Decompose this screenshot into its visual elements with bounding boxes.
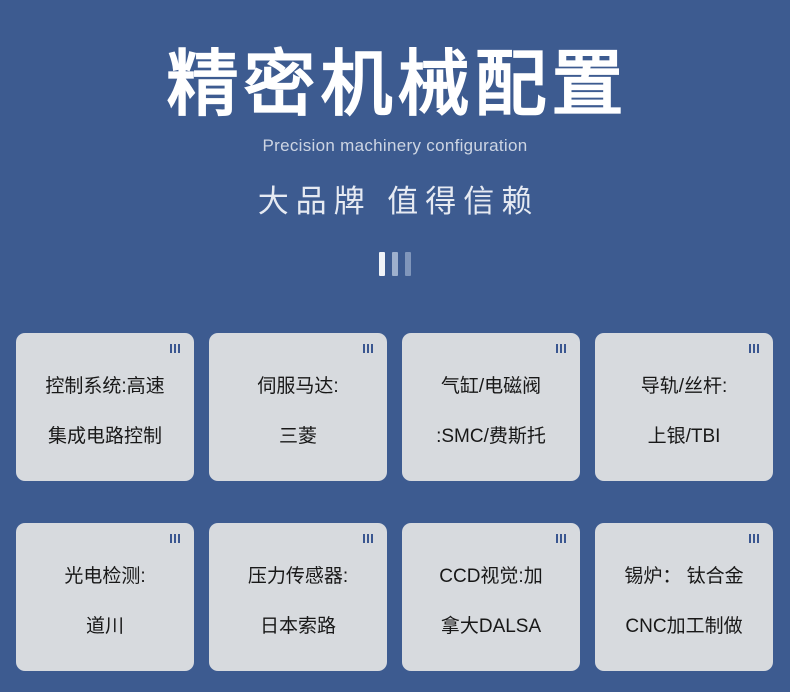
three-bars-icon <box>749 534 759 543</box>
spec-card: 导轨/丝杆: 上银/TBI <box>595 333 773 481</box>
three-bars-icon <box>170 344 180 353</box>
three-bars-icon <box>363 344 373 353</box>
spec-card-line-2: 拿大DALSA <box>410 615 572 639</box>
spec-card: 压力传感器: 日本索路 <box>209 523 387 671</box>
spec-card-line-1: 压力传感器: <box>217 565 379 589</box>
spec-card: 锡炉： 钛合金 CNC加工制做 <box>595 523 773 671</box>
spec-card-grid: 控制系统:高速 集成电路控制 伺服马达: 三菱 气缸/电磁阀 :SMC/费斯托 … <box>16 333 774 671</box>
page-title: 精密机械配置 <box>0 0 790 122</box>
three-bars-icon <box>749 344 759 353</box>
spec-card-line-2: 道川 <box>24 615 186 639</box>
three-bars-icon <box>556 534 566 543</box>
three-bars-icon <box>363 534 373 543</box>
spec-card-line-1: 导轨/丝杆: <box>603 375 765 399</box>
spec-card: 光电检测: 道川 <box>16 523 194 671</box>
spec-card: 控制系统:高速 集成电路控制 <box>16 333 194 481</box>
spec-card-line-2: 集成电路控制 <box>24 425 186 449</box>
spec-card-line-1: 锡炉： 钛合金 <box>603 565 765 589</box>
spec-card-line-1: 伺服马达: <box>217 375 379 399</box>
spec-card-line-1: CCD视觉:加 <box>410 565 572 589</box>
spec-card-line-2: 三菱 <box>217 425 379 449</box>
three-bars-icon <box>0 220 790 276</box>
tagline: 大品牌 值得信赖 <box>0 157 790 220</box>
three-bars-icon <box>556 344 566 353</box>
spec-card: CCD视觉:加 拿大DALSA <box>402 523 580 671</box>
spec-card-line-2: CNC加工制做 <box>603 615 765 639</box>
three-bars-icon <box>170 534 180 543</box>
spec-card-line-2: :SMC/费斯托 <box>410 425 572 449</box>
spec-card-line-1: 控制系统:高速 <box>24 375 186 399</box>
banner-header: 精密机械配置 Precision machinery configuration… <box>0 0 790 276</box>
subtitle-english: Precision machinery configuration <box>0 122 790 156</box>
spec-card-line-1: 光电检测: <box>24 565 186 589</box>
spec-card-line-2: 日本索路 <box>217 615 379 639</box>
spec-card: 伺服马达: 三菱 <box>209 333 387 481</box>
spec-card: 气缸/电磁阀 :SMC/费斯托 <box>402 333 580 481</box>
spec-card-line-1: 气缸/电磁阀 <box>410 375 572 399</box>
spec-card-line-2: 上银/TBI <box>603 425 765 449</box>
promo-banner: 精密机械配置 Precision machinery configuration… <box>0 0 790 692</box>
